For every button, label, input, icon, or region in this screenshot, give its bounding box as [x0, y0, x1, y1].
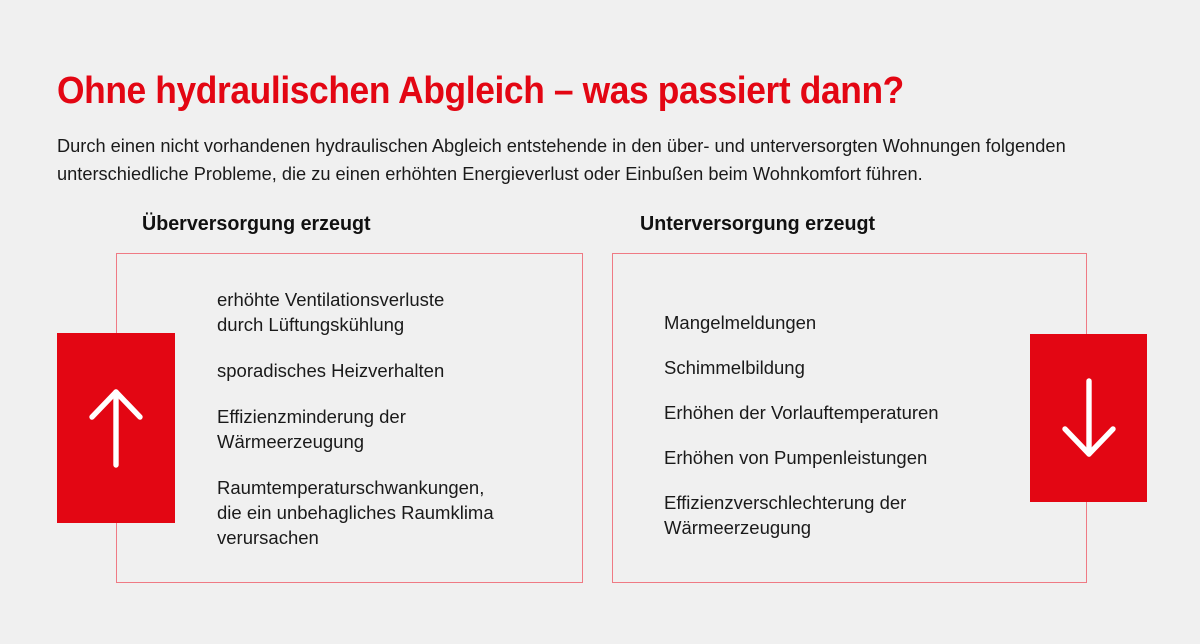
list-item: Schimmelbildung	[664, 355, 1064, 380]
arrow-up-block	[57, 333, 175, 523]
list-item: Erhöhen von Pumpenleistungen	[664, 445, 1064, 470]
list-item: sporadisches Heizverhalten	[217, 358, 567, 383]
column-heading-overversorgung: Überversorgung erzeugt	[142, 212, 371, 236]
infographic-slide: Ohne hydraulischen Abgleich – was passie…	[0, 0, 1200, 644]
page-title: Ohne hydraulischen Abgleich – was passie…	[57, 71, 1080, 112]
item-list-overversorgung: erhöhte Ventilationsverluste durch Lüftu…	[217, 287, 567, 571]
column-heading-unterversorgung: Unterversorgung erzeugt	[640, 212, 875, 236]
arrow-up-icon	[85, 386, 147, 470]
page-subtitle: Durch einen nicht vorhandenen hydraulisc…	[57, 132, 1126, 188]
list-item: Effizienzminderung der Wärmeerzeugung	[217, 404, 567, 454]
list-item: Erhöhen der Vorlauftemperaturen	[664, 400, 1064, 425]
list-item: Effizienzverschlechterung der Wärmeerzeu…	[664, 490, 1064, 540]
list-item: Mangelmeldungen	[664, 310, 1064, 335]
item-list-unterversorgung: Mangelmeldungen Schimmelbildung Erhöhen …	[664, 310, 1064, 560]
arrow-down-block	[1030, 334, 1147, 502]
list-item: Raumtemperaturschwankungen, die ein unbe…	[217, 475, 567, 550]
list-item: erhöhte Ventilationsverluste durch Lüftu…	[217, 287, 567, 337]
arrow-down-icon	[1058, 376, 1120, 460]
